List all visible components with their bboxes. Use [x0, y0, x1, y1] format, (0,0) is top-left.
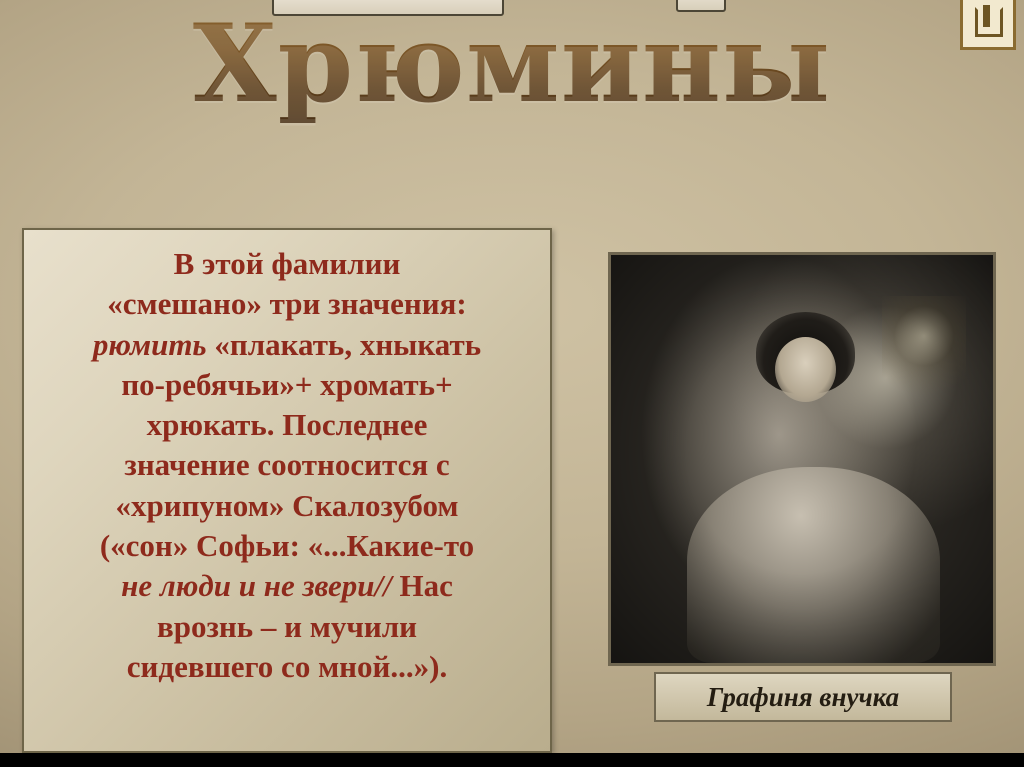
body-line: не люди и не звери// Нас — [121, 568, 453, 603]
photo-vignette — [611, 255, 993, 663]
body-line: рюмить «плакать, хныкать — [93, 327, 481, 362]
body-line: В этой фамилии — [174, 246, 401, 281]
body-line: сидевшего со мной...»). — [127, 649, 447, 684]
text-panel: В этой фамилии«смешано» три значения:рюм… — [22, 228, 552, 753]
body-line: значение соотносится с — [124, 447, 449, 482]
body-line: «хрипуном» Скалозубом — [115, 488, 458, 523]
body-line: хрюкать. Последнее — [147, 407, 428, 442]
slide-body-text: В этой фамилии«смешано» три значения:рюм… — [36, 244, 538, 687]
countess-granddaughter-photo — [611, 255, 993, 663]
slide-title: Хрюмины — [0, 6, 1024, 123]
body-line: («сон» Софьи: «...Какие-то — [100, 528, 474, 563]
body-line: по-ребячьи»+ хромать+ — [121, 367, 452, 402]
bottom-strip — [0, 753, 1024, 767]
body-line: «смешано» три значения: — [107, 286, 467, 321]
photo-frame — [608, 252, 996, 666]
photo-caption: Графиня внучка — [654, 672, 952, 722]
body-line: врознь – и мучили — [157, 609, 417, 644]
presentation-slide: Хрюмины В этой фамилии«смешано» три знач… — [0, 0, 1024, 767]
